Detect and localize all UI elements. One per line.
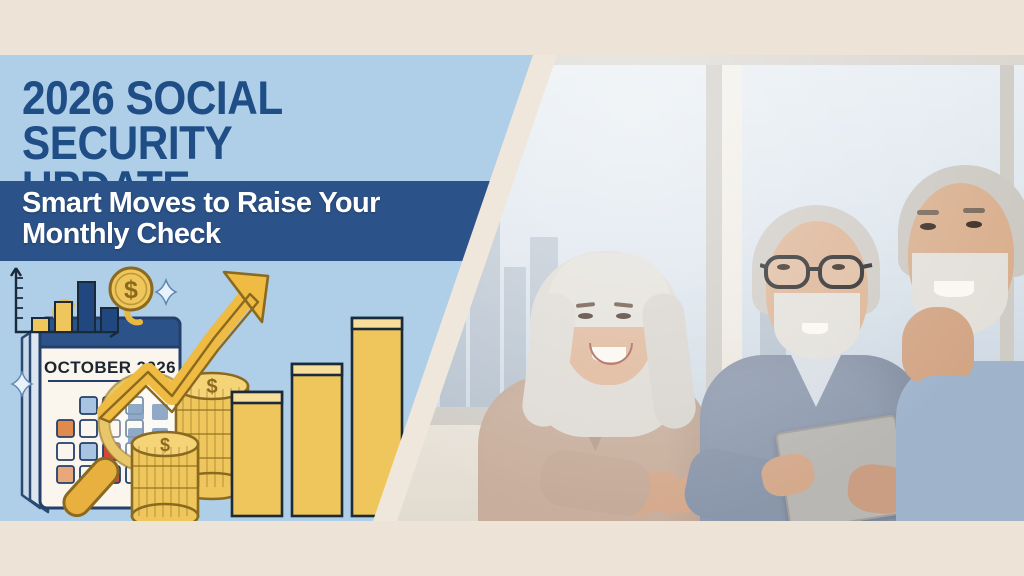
subtitle-text: Smart Moves to Raise Your Monthly Check bbox=[22, 188, 492, 251]
coin-dollar-symbol: $ bbox=[206, 376, 217, 398]
subtitle-band: Smart Moves to Raise Your Monthly Check bbox=[0, 181, 492, 261]
mini-bar-chart bbox=[11, 268, 118, 337]
dollar-badge-icon: $ bbox=[110, 268, 152, 310]
dollar-badge-symbol: $ bbox=[124, 276, 138, 304]
illustration-svg: OCTOBER 2026 bbox=[0, 260, 440, 521]
banner-canvas: 2026 SOCIAL SECURITY UPDATE Smart Moves … bbox=[0, 0, 1024, 576]
coin-dollar-symbol-2: $ bbox=[160, 435, 170, 455]
illustration-group: OCTOBER 2026 bbox=[0, 260, 440, 521]
promo-banner: 2026 SOCIAL SECURITY UPDATE Smart Moves … bbox=[0, 55, 1024, 521]
growth-bars bbox=[232, 318, 402, 516]
